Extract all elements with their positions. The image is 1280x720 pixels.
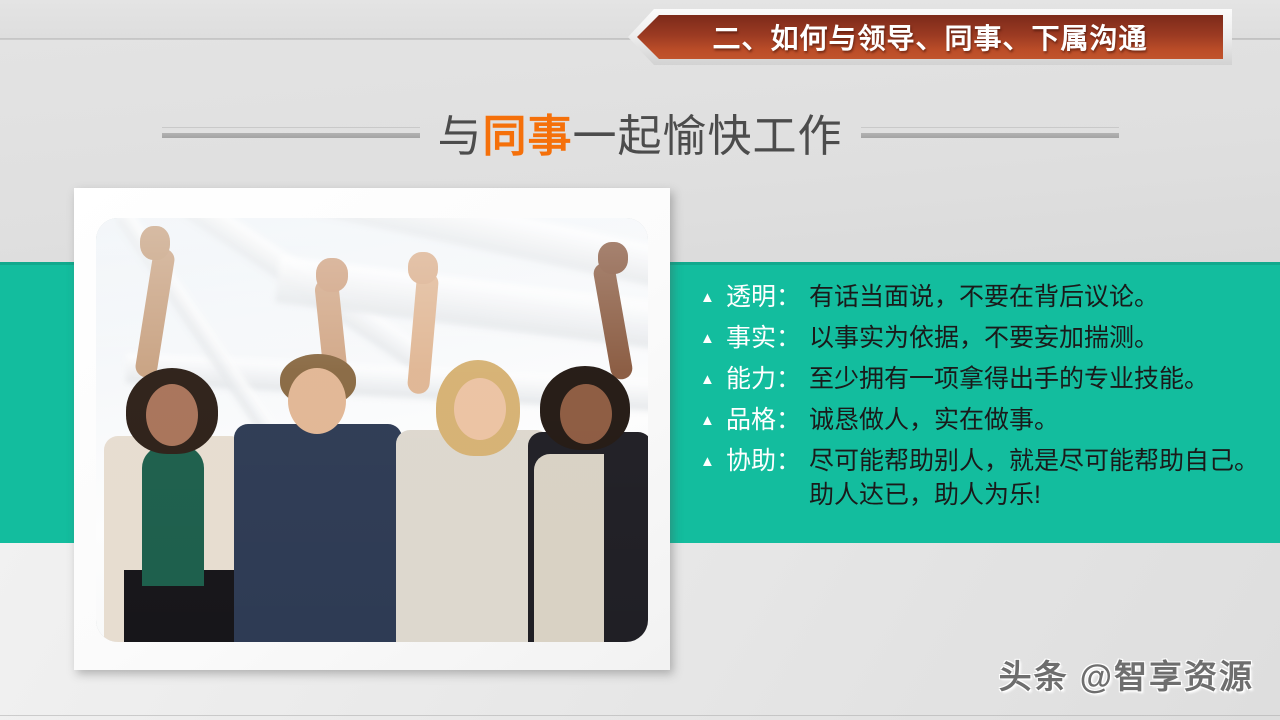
list-item: ▲ 品格： 诚恳做人，实在做事。 xyxy=(700,403,1260,437)
list-item: ▲ 协助： 尽可能帮助别人，就是尽可能帮助自己。助人达已，助人为乐! xyxy=(700,444,1260,512)
triangle-bullet-icon: ▲ xyxy=(700,331,726,346)
raised-fist xyxy=(140,226,170,260)
raised-arm xyxy=(592,261,634,381)
title-rule-left xyxy=(162,126,420,138)
slide-title-row: 与同事一起愉快工作 xyxy=(0,104,1280,160)
section-banner-title: 二、如何与领导、同事、下属沟通 xyxy=(637,15,1223,59)
person-scarf xyxy=(534,454,604,642)
person-top xyxy=(142,446,204,586)
person-blazer xyxy=(234,424,402,642)
raised-fist xyxy=(408,252,438,284)
raised-arm xyxy=(134,247,176,379)
watermark: 头条 @智享资源 xyxy=(999,650,1254,698)
bullet-text: 以事实为依据，不要妄加揣测。 xyxy=(809,321,1159,355)
bullet-list: ▲ 透明： 有话当面说，不要在背后议论。 ▲ 事实： 以事实为依据，不要妄加揣测… xyxy=(700,280,1260,519)
section-banner: 二、如何与领导、同事、下属沟通 xyxy=(628,9,1232,65)
person-blazer xyxy=(396,430,550,642)
presentation-slide: 二、如何与领导、同事、下属沟通 与同事一起愉快工作 xyxy=(0,0,1280,720)
triangle-bullet-icon: ▲ xyxy=(700,290,726,305)
person-head xyxy=(146,384,198,446)
raised-arm xyxy=(407,271,440,394)
bullet-text: 有话当面说，不要在背后议论。 xyxy=(809,280,1159,314)
bullet-label: 品格： xyxy=(726,403,801,437)
bullet-text: 至少拥有一项拿得出手的专业技能。 xyxy=(809,362,1209,396)
bullet-text: 尽可能帮助别人，就是尽可能帮助自己。助人达已，助人为乐! xyxy=(809,444,1260,512)
bullet-label: 透明： xyxy=(726,280,801,314)
photo-person-4 xyxy=(528,218,648,642)
triangle-bullet-icon: ▲ xyxy=(700,454,726,469)
title-accent: 同事 xyxy=(483,112,573,161)
photo-frame xyxy=(74,188,670,670)
raised-fist xyxy=(316,258,348,292)
triangle-bullet-icon: ▲ xyxy=(700,413,726,428)
triangle-bullet-icon: ▲ xyxy=(700,372,726,387)
bullet-text: 诚恳做人，实在做事。 xyxy=(809,403,1059,437)
photo-person-2 xyxy=(224,218,404,642)
list-item: ▲ 能力： 至少拥有一项拿得出手的专业技能。 xyxy=(700,362,1260,396)
raised-fist xyxy=(598,242,628,274)
person-head xyxy=(288,368,346,434)
bullet-label: 能力： xyxy=(726,362,801,396)
slide-bottom-divider xyxy=(0,715,1280,716)
list-item: ▲ 事实： 以事实为依据，不要妄加揣测。 xyxy=(700,321,1260,355)
person-head xyxy=(560,384,612,444)
title-prefix: 与 xyxy=(438,112,483,161)
bullet-label: 事实： xyxy=(726,321,801,355)
bullet-label: 协助： xyxy=(726,444,801,478)
team-photo xyxy=(96,218,648,642)
title-rule-right xyxy=(861,126,1119,138)
person-head xyxy=(454,378,506,440)
title-suffix: 一起愉快工作 xyxy=(573,112,843,161)
page-title: 与同事一起愉快工作 xyxy=(438,100,843,164)
list-item: ▲ 透明： 有话当面说，不要在背后议论。 xyxy=(700,280,1260,314)
